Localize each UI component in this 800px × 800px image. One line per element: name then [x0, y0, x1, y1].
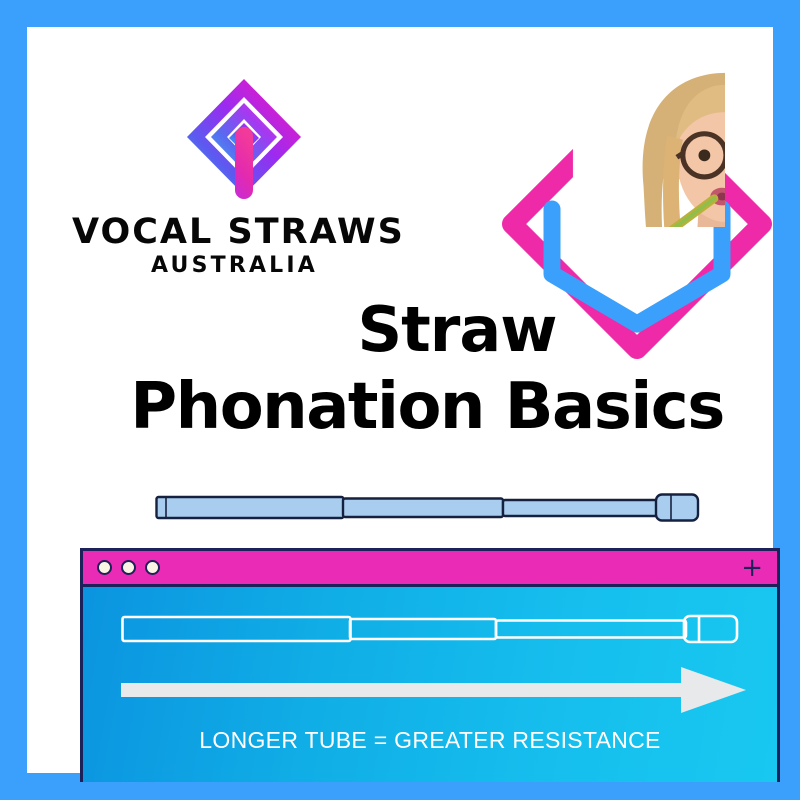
- browser-window-panel: +: [80, 548, 780, 782]
- window-content: LONGER TUBE = GREATER RESISTANCE: [83, 587, 777, 782]
- panel-caption: LONGER TUBE = GREATER RESISTANCE: [83, 727, 777, 754]
- window-titlebar: +: [83, 551, 777, 587]
- rightward-arrow-icon: [121, 667, 746, 713]
- title-line-2: Phonation Basics: [54, 375, 800, 439]
- brand-region: AUSTRALIA: [72, 255, 397, 277]
- white-card: VOCAL STRAWS AUSTRALIA: [27, 27, 773, 773]
- window-dot-3-icon[interactable]: [145, 560, 160, 575]
- window-dot-2-icon[interactable]: [121, 560, 136, 575]
- page-title: Straw Phonation Basics: [54, 299, 800, 439]
- outer-blue-frame: VOCAL STRAWS AUSTRALIA: [0, 0, 800, 800]
- woman-using-vocal-straw-photo: [570, 69, 725, 227]
- nested-diamond-logo-icon: [180, 75, 308, 215]
- telescoping-straw-illustration: [155, 489, 700, 527]
- add-tab-icon[interactable]: +: [741, 555, 763, 581]
- telescoping-straw-outline: [121, 610, 741, 648]
- title-line-1: Straw: [114, 299, 800, 361]
- window-dot-1-icon[interactable]: [97, 560, 112, 575]
- brand-logo: VOCAL STRAWS AUSTRALIA: [72, 75, 397, 290]
- brand-name: VOCAL STRAWS: [72, 215, 397, 250]
- window-controls: [97, 560, 160, 575]
